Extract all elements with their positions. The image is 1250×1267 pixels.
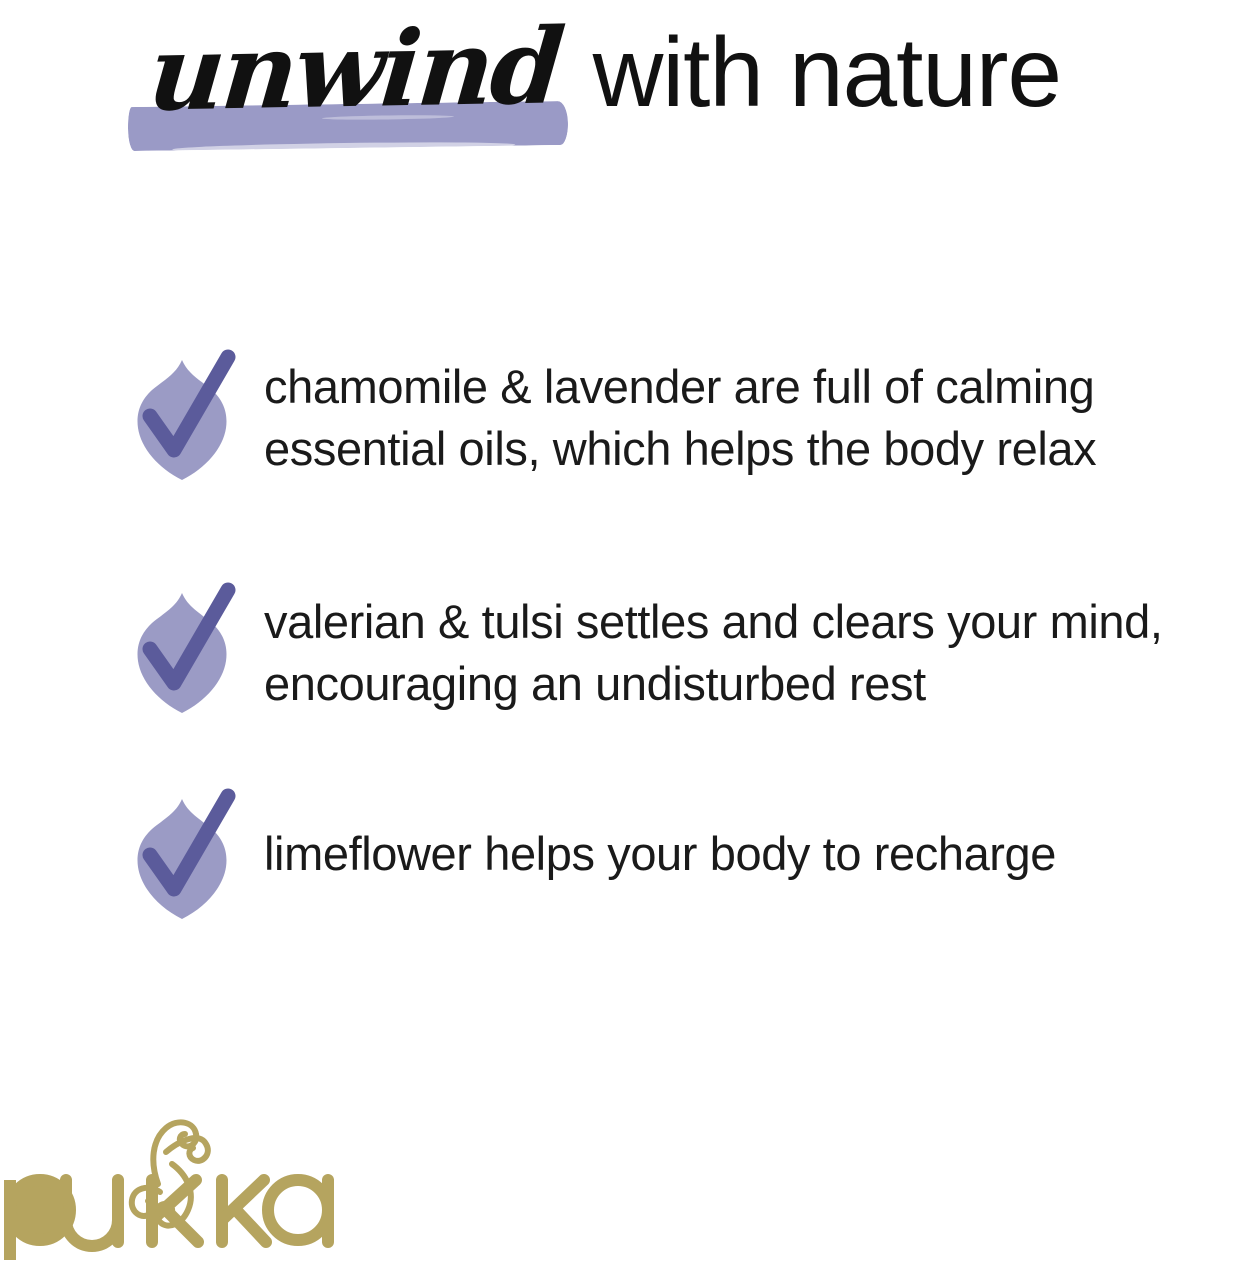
page-root: unwind with nature chamomile & lavender …	[0, 0, 1250, 1263]
benefit-line: valerian & tulsi settles and clears your…	[264, 591, 1224, 653]
headline-rest-text: with nature	[593, 23, 1061, 121]
pukka-logo	[0, 1092, 340, 1267]
leaf-check-icon	[122, 791, 242, 921]
benefits-list: chamomile & lavender are full of calming…	[0, 340, 1250, 935]
headline-inner: unwind with nature	[146, 18, 1061, 122]
list-item: chamomile & lavender are full of calming…	[0, 340, 1250, 490]
headline-script-word: unwind	[145, 14, 565, 125]
list-item: limeflower helps your body to recharge	[0, 785, 1250, 935]
benefit-line: limeflower helps your body to recharge	[264, 823, 1224, 885]
headline-script-wrap: unwind	[146, 18, 567, 122]
leaf-check-icon	[122, 352, 242, 482]
benefit-line: chamomile & lavender are full of calming	[264, 356, 1224, 418]
page-title: unwind with nature	[0, 18, 1250, 178]
benefit-text: valerian & tulsi settles and clears your…	[264, 575, 1224, 715]
benefit-line: encouraging an undisturbed rest	[264, 653, 1224, 715]
benefit-text: limeflower helps your body to recharge	[264, 785, 1224, 885]
benefit-line: essential oils, which helps the body rel…	[264, 418, 1224, 480]
leaf-check-icon	[122, 585, 242, 715]
benefit-text: chamomile & lavender are full of calming…	[264, 340, 1224, 480]
list-item: valerian & tulsi settles and clears your…	[0, 575, 1250, 725]
